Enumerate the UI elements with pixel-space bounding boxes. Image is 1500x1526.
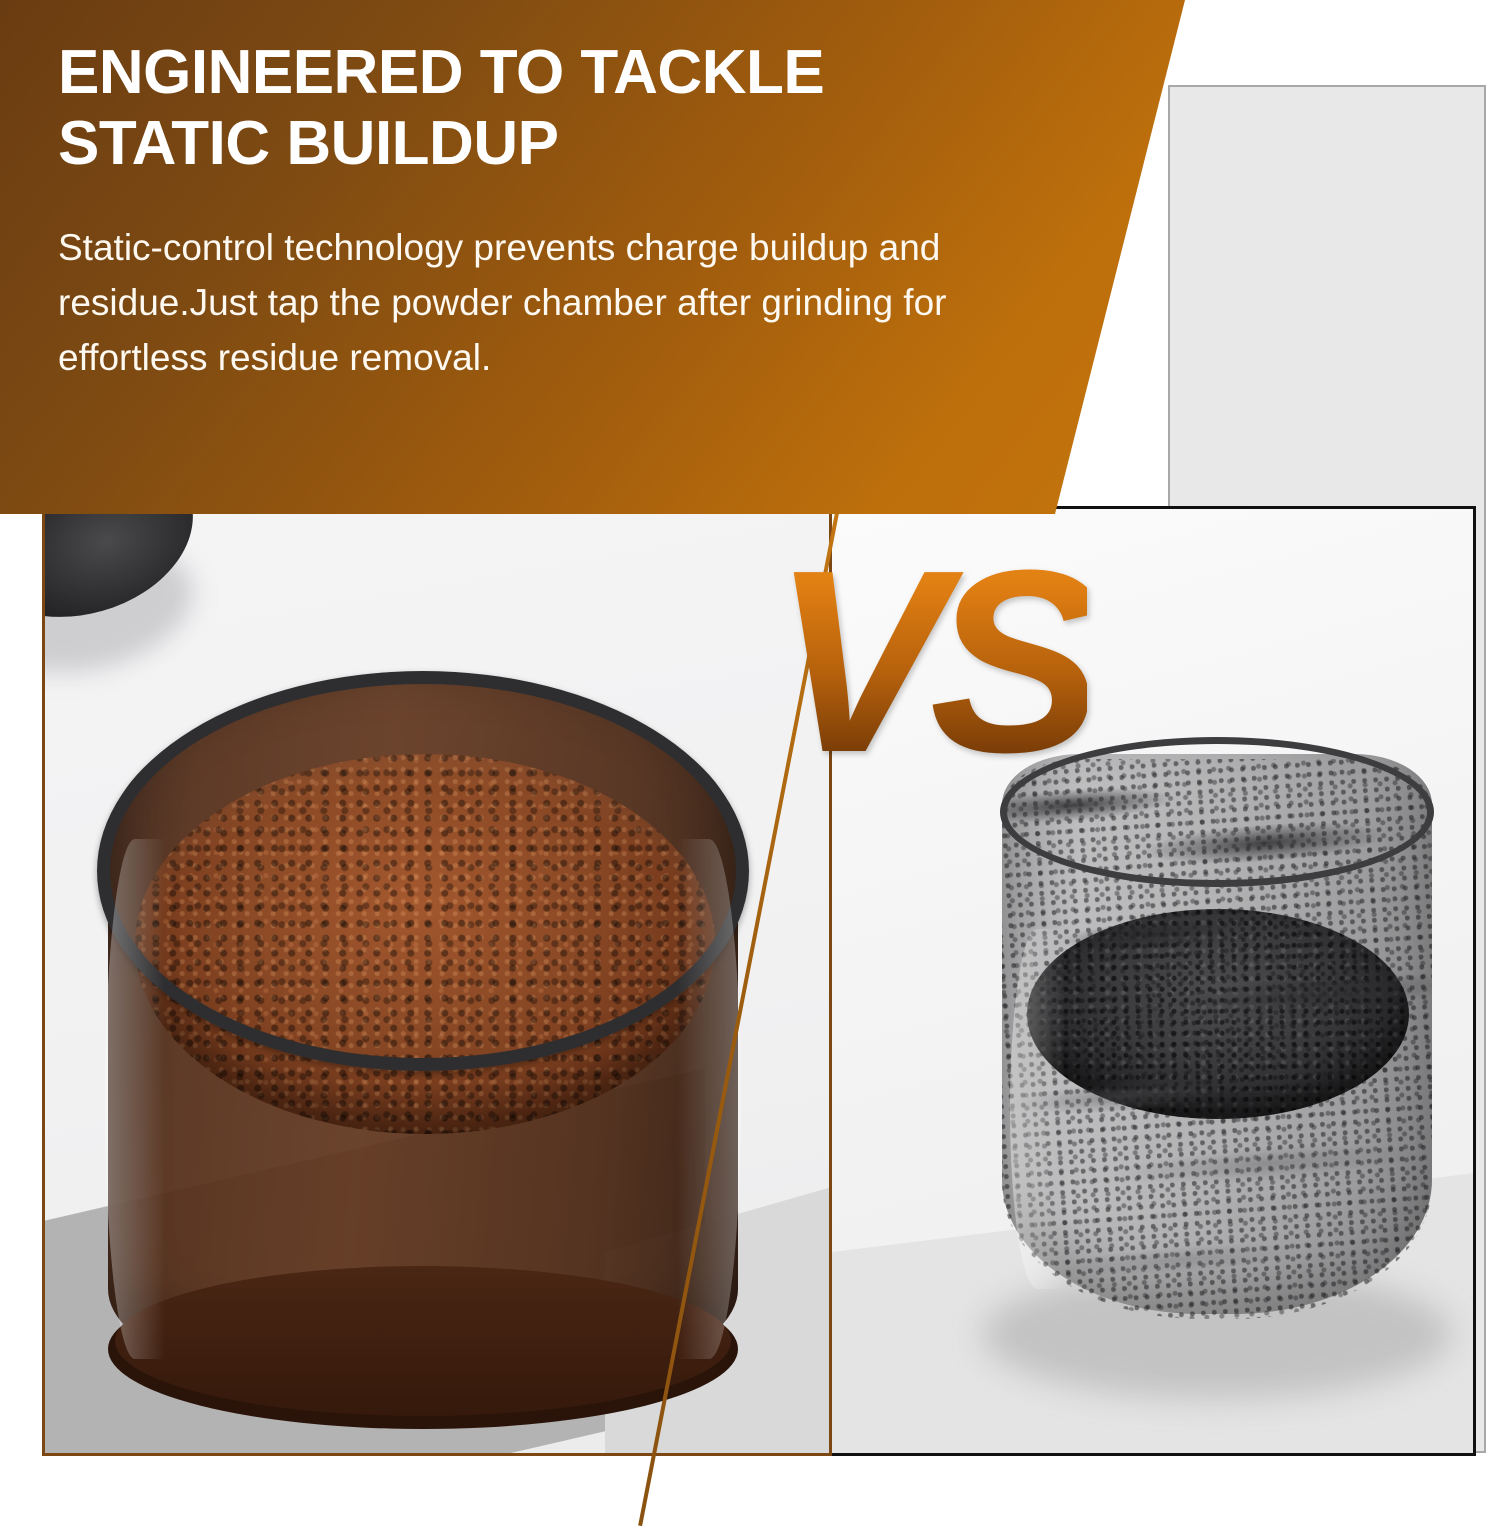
header-banner: ENGINEERED TO TACKLE STATIC BUILDUP Stat… — [0, 0, 1185, 514]
cup-highlight — [1010, 929, 1065, 1289]
banner-description: Static-control technology prevents charg… — [58, 221, 998, 385]
banner-text-block: ENGINEERED TO TACKLE STATIC BUILDUP Stat… — [58, 38, 1058, 386]
chamber-rim — [97, 671, 749, 1071]
photo-clean-chamber — [42, 506, 832, 1456]
comparison-collage — [42, 506, 1476, 1456]
page-title: ENGINEERED TO TACKLE STATIC BUILDUP — [58, 38, 1058, 179]
chamber-bottom — [115, 1266, 731, 1416]
vs-badge: VS — [772, 532, 1087, 792]
